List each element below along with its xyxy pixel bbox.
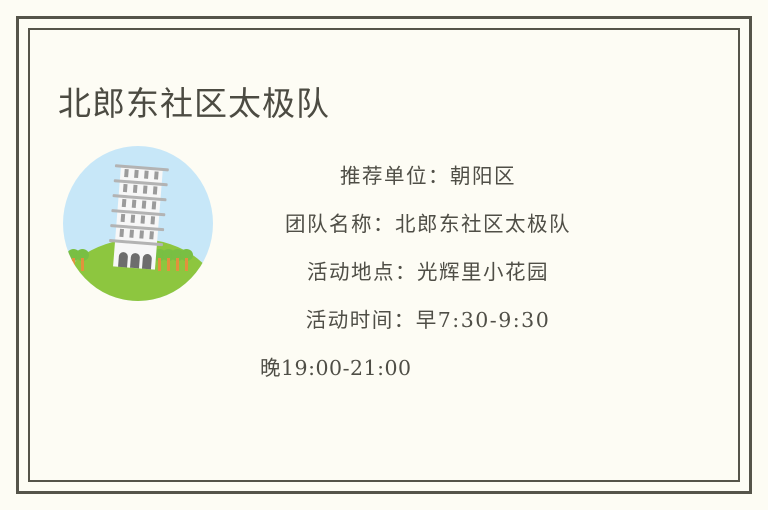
content-area: 推荐单位：朝阳区 团队名称：北郎东社区太极队 活动地点：光辉里小花园 活动时间：… <box>28 130 740 420</box>
info-line-activity-time: 活动时间：早7:30-9:30 <box>233 296 623 344</box>
illustration-circle <box>63 146 213 301</box>
info-line-recommending-unit: 推荐单位：朝阳区 <box>233 152 623 200</box>
tree-group-left <box>69 249 87 271</box>
info-line-activity-place: 活动地点：光辉里小花园 <box>233 248 623 296</box>
team-info-block: 推荐单位：朝阳区 团队名称：北郎东社区太极队 活动地点：光辉里小花园 活动时间：… <box>233 152 623 392</box>
tree-icon <box>76 249 89 271</box>
leaning-tower-icon <box>107 160 169 270</box>
info-line-activity-time-evening: 晚19:00-21:00 <box>233 344 623 392</box>
info-line-team-name: 团队名称：北郎东社区太极队 <box>233 200 623 248</box>
tower-arch <box>130 253 140 269</box>
tower-arch <box>118 252 128 268</box>
page-title: 北郎东社区太极队 <box>58 82 330 126</box>
poster-card: 北郎东社区太极队 <box>0 0 768 510</box>
tower-arch <box>142 254 152 270</box>
tree-icon <box>180 249 193 271</box>
team-photo <box>63 146 213 301</box>
